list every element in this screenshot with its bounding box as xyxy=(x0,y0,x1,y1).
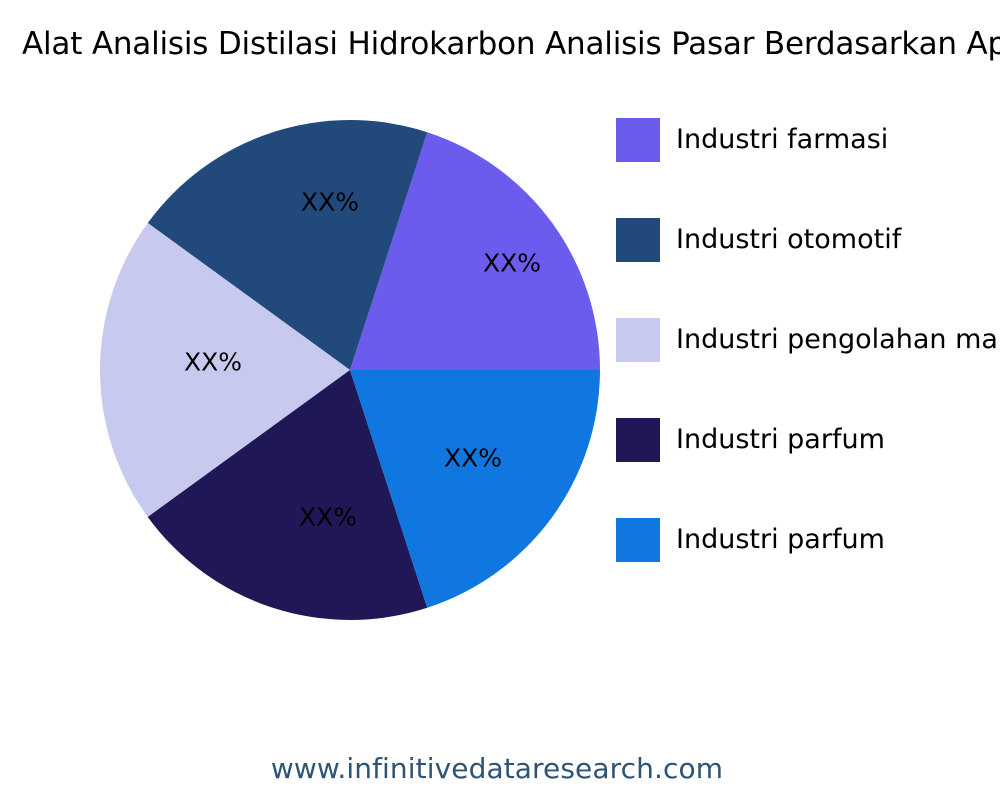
legend-item-label: Industri farmasi xyxy=(676,116,888,164)
pie-chart-svg xyxy=(100,120,600,620)
pie-chart: XX%XX%XX%XX%XX% xyxy=(100,120,600,620)
legend-item-label: Industri pengolahan makanan xyxy=(676,316,1000,364)
chart-page: Alat Analisis Distilasi Hidrokarbon Anal… xyxy=(0,0,1000,800)
legend-swatch-icon xyxy=(616,518,660,562)
chart-legend: Industri farmasiIndustri otomotifIndustr… xyxy=(616,118,1000,618)
legend-item-label: Industri parfum xyxy=(676,416,885,464)
footer-url[interactable]: www.infinitivedataresearch.com xyxy=(0,752,1000,785)
legend-swatch-icon xyxy=(616,218,660,262)
legend-item[interactable]: Industri otomotif xyxy=(616,218,1000,318)
legend-item[interactable]: Industri parfum xyxy=(616,418,1000,518)
page-title: Alat Analisis Distilasi Hidrokarbon Anal… xyxy=(22,24,1000,64)
legend-item[interactable]: Industri farmasi xyxy=(616,118,1000,218)
legend-item[interactable]: Industri pengolahan makanan xyxy=(616,318,1000,418)
legend-item-label: Industri parfum xyxy=(676,516,885,564)
legend-swatch-icon xyxy=(616,318,660,362)
legend-swatch-icon xyxy=(616,418,660,462)
legend-swatch-icon xyxy=(616,118,660,162)
legend-item-label: Industri otomotif xyxy=(676,216,901,264)
legend-item[interactable]: Industri parfum xyxy=(616,518,1000,618)
